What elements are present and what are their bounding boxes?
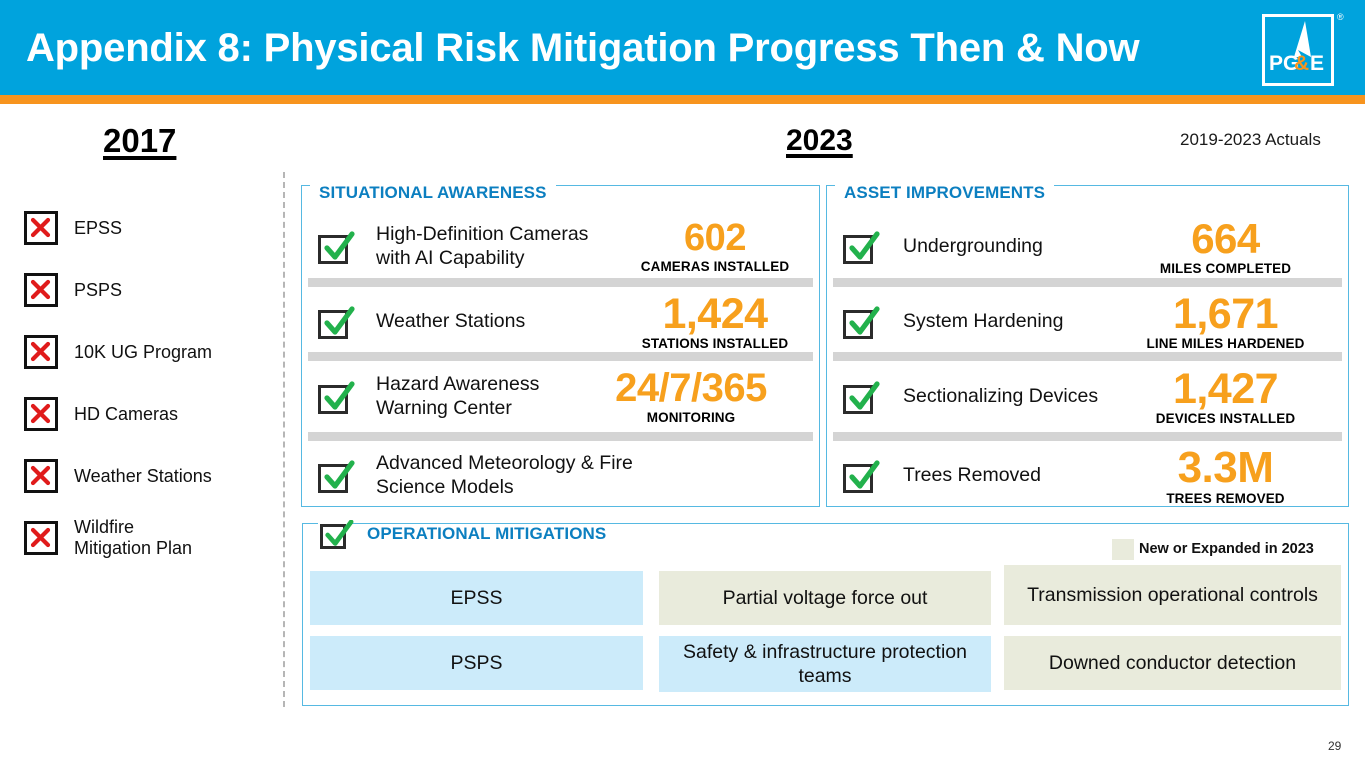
row-divider [833, 278, 1342, 287]
metric-row: Trees Removed 3.3M TREES REMOVED [827, 446, 1365, 506]
checkmark-icon [318, 520, 351, 550]
registered-trademark-icon: ® [1337, 12, 1344, 22]
metric-unit: TREES REMOVED [1128, 491, 1323, 506]
list-item-label: HD Cameras [74, 404, 178, 425]
metric-number: 602 [626, 220, 804, 257]
x-mark-icon [24, 521, 58, 555]
actuals-note: 2019-2023 Actuals [1180, 130, 1321, 150]
panel-asset-improvements: Undergrounding 664 MILES COMPLETED Syste… [826, 185, 1349, 507]
x-mark-icon [24, 459, 58, 493]
legend-swatch [1112, 539, 1134, 560]
metric-value-group: 3.3M TREES REMOVED [1128, 446, 1323, 505]
list-item: 10K UG Program [24, 321, 274, 383]
row-divider [833, 432, 1342, 441]
row-divider [308, 432, 813, 441]
metric-unit: MILES COMPLETED [1128, 261, 1323, 276]
x-mark-icon [24, 273, 58, 307]
metric-label: Undergrounding [903, 235, 1128, 259]
legacy-2017-list: EPSS PSPS 10K UG Program HD Cameras Weat… [24, 197, 274, 569]
checkmark-icon [318, 231, 354, 264]
panel-title-asset-improvements: ASSET IMPROVEMENTS [835, 183, 1054, 203]
panel-title-operational-mitigations: OPERATIONAL MITIGATIONS [358, 524, 615, 544]
list-item-label: Weather Stations [74, 466, 212, 487]
list-item-label: Wildfire Mitigation Plan [74, 517, 204, 558]
metric-unit: LINE MILES HARDENED [1128, 336, 1323, 351]
metric-unit: CAMERAS INSTALLED [626, 259, 804, 274]
metric-label: System Hardening [903, 310, 1128, 334]
metric-value-group: 1,424 STATIONS INSTALLED [626, 293, 804, 351]
list-item-label: 10K UG Program [74, 342, 212, 363]
panel-title-situational-awareness: SITUATIONAL AWARENESS [310, 183, 556, 203]
metric-number: 1,424 [626, 293, 804, 335]
list-item: Wildfire Mitigation Plan [24, 507, 274, 569]
metric-row: Undergrounding 664 MILES COMPLETED [827, 216, 1365, 278]
row-divider [308, 278, 813, 287]
list-item-label: PSPS [74, 280, 122, 301]
x-mark-icon [24, 397, 58, 431]
metric-row: Weather Stations 1,424 STATIONS INSTALLE… [302, 293, 845, 351]
metric-row: Advanced Meteorology & Fire Science Mode… [302, 446, 845, 506]
checkmark-icon [318, 306, 354, 339]
metric-row: High-Definition Cameras with AI Capabili… [302, 216, 845, 278]
list-item: HD Cameras [24, 383, 274, 445]
metric-row: System Hardening 1,671 LINE MILES HARDEN… [827, 293, 1365, 351]
row-divider [833, 352, 1342, 361]
svg-text:&: & [1294, 52, 1309, 75]
metric-value-group: 1,427 DEVICES INSTALLED [1128, 368, 1323, 426]
header-accent-stripe [0, 95, 1365, 104]
metric-unit: STATIONS INSTALLED [626, 336, 804, 351]
list-item: Weather Stations [24, 445, 274, 507]
mitigation-cell: Downed conductor detection [1004, 636, 1341, 690]
pge-logo: PG & E [1262, 14, 1334, 86]
mitigation-cell: EPSS [310, 571, 643, 625]
metric-label: High-Definition Cameras with AI Capabili… [376, 223, 626, 271]
metric-label: Weather Stations [376, 310, 626, 334]
panel-situational-awareness: High-Definition Cameras with AI Capabili… [301, 185, 820, 507]
metric-value-group: 664 MILES COMPLETED [1128, 218, 1323, 275]
metric-number: 1,427 [1128, 368, 1323, 410]
metric-value-group [646, 476, 824, 477]
metric-label: Hazard Awareness Warning Center [376, 373, 591, 421]
mitigation-cell: PSPS [310, 636, 643, 690]
vertical-dashed-divider [283, 172, 285, 707]
metric-number: 24/7/365 [591, 369, 791, 408]
list-item: PSPS [24, 259, 274, 321]
metric-number: 3.3M [1128, 446, 1323, 489]
metric-label: Sectionalizing Devices [903, 385, 1128, 409]
list-item-label: EPSS [74, 218, 122, 239]
heading-year-2023: 2023 [786, 124, 853, 158]
metric-unit: DEVICES INSTALLED [1128, 411, 1323, 426]
row-divider [308, 352, 813, 361]
page-title: Appendix 8: Physical Risk Mitigation Pro… [26, 26, 1139, 71]
metric-number: 1,671 [1128, 293, 1323, 335]
heading-year-2017: 2017 [103, 122, 176, 160]
metric-label: Advanced Meteorology & Fire Science Mode… [376, 452, 646, 500]
checkmark-icon [843, 381, 879, 414]
checkmark-icon [843, 460, 879, 493]
metric-value-group: 24/7/365 MONITORING [591, 369, 791, 424]
x-mark-icon [24, 335, 58, 369]
mitigation-cell: Partial voltage force out [659, 571, 991, 625]
metric-number: 664 [1128, 218, 1323, 259]
metric-label: Trees Removed [903, 464, 1128, 488]
mitigation-cell: Safety & infrastructure protection teams [659, 636, 991, 692]
checkmark-icon [318, 381, 354, 414]
legend-label: New or Expanded in 2023 [1139, 541, 1314, 557]
metric-unit: MONITORING [591, 410, 791, 425]
checkmark-icon [318, 460, 354, 493]
metric-row: Hazard Awareness Warning Center 24/7/365… [302, 366, 845, 428]
pge-logo-mark: PG & E [1265, 17, 1331, 83]
list-item: EPSS [24, 197, 274, 259]
metric-row: Sectionalizing Devices 1,427 DEVICES INS… [827, 366, 1365, 428]
mitigation-cell: Transmission operational controls [1004, 565, 1341, 625]
metric-value-group: 602 CAMERAS INSTALLED [626, 220, 804, 273]
x-mark-icon [24, 211, 58, 245]
page-number: 29 [1328, 739, 1341, 753]
metric-value-group: 1,671 LINE MILES HARDENED [1128, 293, 1323, 351]
checkmark-icon [843, 306, 879, 339]
checkmark-icon [843, 231, 879, 264]
svg-text:E: E [1310, 52, 1324, 75]
